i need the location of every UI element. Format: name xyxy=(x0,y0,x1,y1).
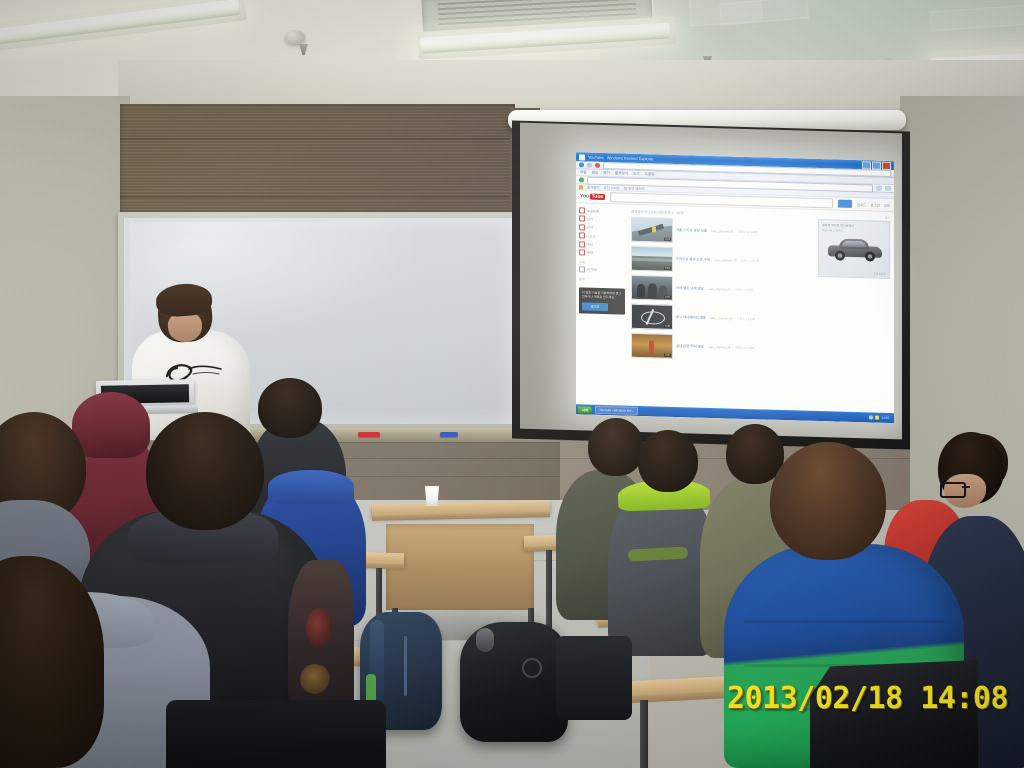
bookmark-favorites[interactable]: 즐겨찾기 xyxy=(587,185,599,190)
sidebar-item-music[interactable]: 음악 xyxy=(579,224,625,231)
video-title[interactable]: 로고 애니메이션 샘플 xyxy=(676,315,706,320)
sidebar-label-popular: 인기 xyxy=(587,216,593,221)
sidebar-item-popular[interactable]: 인기 xyxy=(579,216,625,223)
music-icon xyxy=(579,224,585,230)
sidebar-item-sports[interactable]: 스포츠 xyxy=(579,232,625,239)
sidebar-item-movies[interactable]: 영화 xyxy=(579,249,625,256)
ad-car-image xyxy=(828,238,882,262)
desk-center-panel xyxy=(386,524,534,610)
youtube-signin-promo: 더 많은 기능을 이용하려면 로그인하거나 계정을 만드세요. 로그인 xyxy=(579,287,625,314)
youtube-body: 재생목록 인기 음악 스포츠 xyxy=(576,203,894,423)
playlist-icon xyxy=(579,207,585,213)
youtube-sidebar: 재생목록 인기 음악 스포츠 xyxy=(576,203,628,423)
video-duration: 4:02 xyxy=(664,354,671,357)
menu-item-favorites[interactable]: 즐겨찾기 xyxy=(615,171,628,176)
tray-clock: 14:08 xyxy=(881,416,889,420)
nav-settings[interactable]: 설정 xyxy=(884,202,890,207)
marker-blue-3 xyxy=(440,432,458,437)
student-dark-hoodie-front-head xyxy=(146,412,264,530)
sidebar-label-playlists: 재생목록 xyxy=(587,208,599,213)
youtube-logo-you: You xyxy=(580,193,589,199)
chair-back-front-left xyxy=(166,700,386,768)
maximize-icon[interactable] xyxy=(872,161,881,169)
ad-subtext: 지금 시승 신청하기 xyxy=(822,228,886,234)
stop-icon[interactable] xyxy=(595,163,600,168)
close-icon[interactable] xyxy=(882,161,891,169)
backpack-black xyxy=(460,622,568,742)
video-channel[interactable]: user_channel_05 xyxy=(708,345,730,350)
marker-red-2 xyxy=(358,432,380,437)
forward-icon[interactable] xyxy=(587,163,592,168)
smoke-detector-left xyxy=(285,30,305,44)
sidebar-label-music: 음악 xyxy=(587,225,593,230)
ad-banner[interactable]: 새로운 세단을 만나보세요 지금 시승 신청하기 LEXUS xyxy=(818,219,890,279)
sidebar-label-my-channel: 내 채널 xyxy=(587,267,597,272)
youtube-nav: 업로드 로그인 설정 xyxy=(857,202,890,208)
refresh-icon[interactable] xyxy=(885,186,891,191)
movies-icon xyxy=(579,249,585,255)
sidebar-heading-browse: 탐색 xyxy=(579,276,625,282)
minimize-icon[interactable] xyxy=(862,161,871,169)
menu-item-tools[interactable]: 도구 xyxy=(633,171,640,176)
popular-icon xyxy=(579,216,585,222)
video-thumbnail-stage[interactable]: 4:02 xyxy=(631,333,673,359)
promo-text: 더 많은 기능을 이용하려면 로그인하거나 계정을 만드세요. xyxy=(582,290,622,300)
channel-icon xyxy=(579,266,585,272)
video-meta: 실내 공연 무대 영상 user_channel_05 조회수 22,764회 xyxy=(676,334,891,365)
menu-item-edit[interactable]: 편집 xyxy=(592,170,599,175)
student-blue-jacket-hood xyxy=(268,470,354,504)
back-icon[interactable] xyxy=(579,162,584,167)
video-title[interactable]: 야외 행사 단체 영상 xyxy=(676,286,704,291)
taskbar-item-browser[interactable]: YouTube - Windows Inte... xyxy=(595,406,638,415)
sidebar-item-playlists[interactable]: 재생목록 xyxy=(579,207,625,214)
ad-brand: LEXUS xyxy=(874,272,886,276)
eyeglasses-icon xyxy=(940,482,966,498)
video-channel[interactable]: user_channel_02 xyxy=(714,258,736,263)
video-channel[interactable]: user_channel_01 xyxy=(711,229,733,234)
menu-item-file[interactable]: 파일 xyxy=(580,170,587,175)
video-title[interactable]: 드라이브 풍경 도로 주행 xyxy=(676,257,710,262)
video-views: 조회수 3,905회 xyxy=(735,288,753,293)
ie-logo-icon xyxy=(579,154,585,160)
browser-tab-label[interactable]: YouTube xyxy=(588,155,604,160)
projector-screen-surface: YouTube Windows Internet Explorer 파일 편집 xyxy=(520,123,902,440)
sidebar-item-my-channel[interactable]: 내 채널 xyxy=(579,266,625,273)
start-button[interactable]: 시작 xyxy=(578,406,592,413)
window-controls xyxy=(862,161,891,170)
chair-back-right xyxy=(556,636,632,720)
system-tray[interactable]: 14:08 xyxy=(866,414,892,421)
camera-timestamp: 2013/02/18 14:08 xyxy=(727,681,1008,716)
video-views: 조회수 12,482회 xyxy=(738,230,758,235)
desk-right-1-leg xyxy=(546,550,552,628)
video-views: 조회수 8,031회 xyxy=(741,259,759,264)
classroom-photo: YouTube Windows Internet Explorer 파일 편집 xyxy=(0,0,1024,768)
tray-network-icon[interactable] xyxy=(869,415,873,419)
video-duration: 3:24 xyxy=(664,238,671,241)
browser-window-title: Windows Internet Explorer xyxy=(607,155,654,161)
youtube-search-button[interactable] xyxy=(838,200,852,208)
video-result-item[interactable]: 0:48 로고 애니메이션 샘플 user_channel_04 조회수 1,1… xyxy=(631,304,891,336)
wood-wall-panel xyxy=(120,104,515,219)
menu-item-help[interactable]: 도움말 xyxy=(645,172,655,177)
video-channel[interactable]: user_channel_04 xyxy=(710,316,732,321)
menu-item-view[interactable]: 보기 xyxy=(603,170,610,175)
video-meta: 야외 행사 단체 영상 user_channel_03 조회수 3,905회 xyxy=(676,276,891,307)
student-olive-jacket-head xyxy=(588,418,644,476)
projected-browser-window: YouTube Windows Internet Explorer 파일 편집 xyxy=(576,152,894,423)
video-thumbnail-road[interactable]: 5:10 xyxy=(631,246,673,272)
nav-signin[interactable]: 로그인 xyxy=(870,202,879,207)
video-title[interactable]: 실내 공연 무대 영상 xyxy=(676,344,704,349)
page-icon xyxy=(579,177,584,182)
games-icon xyxy=(579,241,585,247)
video-thumbnail-people[interactable]: 2:47 xyxy=(631,275,673,301)
star-icon xyxy=(579,185,583,189)
video-duration: 2:47 xyxy=(664,296,671,299)
video-meta: 로고 애니메이션 샘플 user_channel_04 조회수 1,120회 xyxy=(676,305,891,336)
go-icon[interactable] xyxy=(876,186,882,191)
sidebar-label-movies: 영화 xyxy=(587,250,593,255)
promo-signin-button[interactable]: 로그인 xyxy=(582,302,608,311)
bookmark-slices[interactable]: 웹 조각 갤러리 xyxy=(624,186,645,192)
video-views: 조회수 22,764회 xyxy=(735,346,755,351)
video-thumbnail-logo[interactable]: 0:48 xyxy=(631,304,673,330)
eyeglasses-bridge xyxy=(962,486,970,488)
youtube-sidebar-ad[interactable]: 광고 새로운 세단을 만나보세요 지금 시승 신청하기 LE xyxy=(818,214,890,279)
tray-volume-icon[interactable] xyxy=(875,416,879,420)
video-result-item[interactable]: 4:02 실내 공연 무대 영상 user_channel_05 조회수 22,… xyxy=(631,333,891,365)
student-neon-hoodie-head xyxy=(638,430,698,492)
video-thumbnail-snow[interactable]: 3:24 xyxy=(631,217,673,243)
video-result-item[interactable]: 2:47 야외 행사 단체 영상 user_channel_03 조회수 3,9… xyxy=(631,275,891,307)
sports-icon xyxy=(579,232,585,238)
paper-cup xyxy=(424,486,440,506)
sidebar-heading-subscriptions: 구독 xyxy=(579,259,625,265)
youtube-logo-tube: Tube xyxy=(590,194,606,200)
video-duration: 5:10 xyxy=(664,267,671,270)
student-green-blue-vest-head xyxy=(770,442,886,560)
sidebar-label-sports: 스포츠 xyxy=(587,233,596,238)
nav-upload[interactable]: 업로드 xyxy=(857,202,866,207)
bookmark-suggested[interactable]: 추천 사이트 xyxy=(603,185,620,190)
video-duration: 0:48 xyxy=(664,325,671,328)
sidebar-item-games[interactable]: 게임 xyxy=(579,241,625,248)
video-views: 조회수 1,120회 xyxy=(737,317,755,322)
video-title[interactable]: 겨울 스키장 영상 모음 xyxy=(676,228,707,233)
youtube-logo[interactable]: You Tube xyxy=(580,193,605,200)
video-channel[interactable]: user_channel_03 xyxy=(708,287,730,292)
youtube-page: You Tube 업로드 로그인 설정 재생목록 xyxy=(576,190,894,423)
student-maroon-hood-hood xyxy=(72,392,150,458)
sidebar-label-games: 게임 xyxy=(587,242,593,247)
student-back-left-head xyxy=(258,378,322,438)
desk-right-3-leg xyxy=(640,700,648,768)
